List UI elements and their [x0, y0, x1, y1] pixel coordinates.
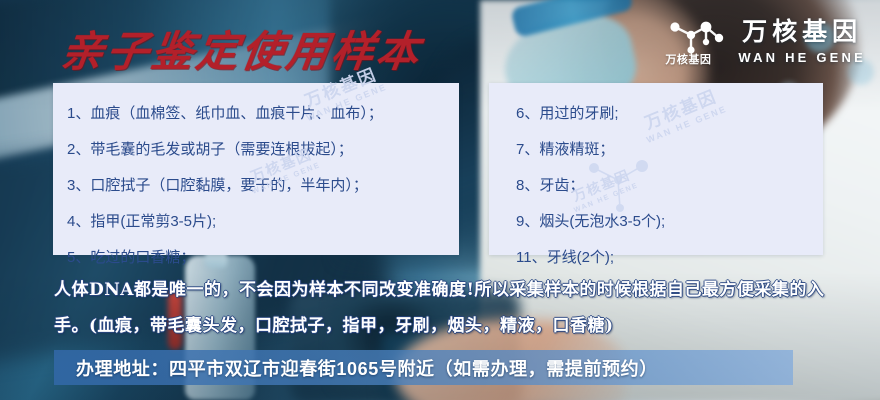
- molecule-network-icon: 万核基因: [666, 18, 726, 66]
- sample-list-left: 1、血痕（血棉签、纸巾血、血痕干片、血布）； 2、带毛囊的毛发或胡子（需要连根拔…: [53, 83, 459, 265]
- list-item: 2、带毛囊的毛发或胡子（需要连根拔起）；: [67, 142, 459, 157]
- sample-list-panel-left: 1、血痕（血棉签、纸巾血、血痕干片、血布）； 2、带毛囊的毛发或胡子（需要连根拔…: [53, 83, 459, 255]
- brand-name-cn: 万核基因: [742, 20, 862, 45]
- poster-root: 亲子鉴定使用样本 万核: [0, 0, 880, 400]
- sample-list-panel-right: 6、用过的牙刷; 7、精液精斑； 8、牙齿； 9、烟头(无泡水3-5个); 11…: [489, 83, 823, 255]
- brand-name-en: WAN HE GENE: [738, 51, 866, 64]
- list-item: 9、烟头(无泡水3-5个);: [516, 214, 823, 229]
- address-banner: 办理地址：四平市双辽市迎春街1065号附近（如需办理，需提前预约）: [54, 350, 793, 385]
- brand-logo[interactable]: 万核基因 万核基因 WAN HE GENE: [666, 18, 866, 66]
- list-item: 5、吃过的口香糖；: [67, 250, 459, 265]
- logo-mark-label: 万核基因: [665, 51, 711, 67]
- brand-text: 万核基因 WAN HE GENE: [738, 20, 866, 64]
- address-text: 办理地址：四平市双辽市迎春街1065号附近（如需办理，需提前预约）: [54, 355, 658, 381]
- list-item: 1、血痕（血棉签、纸巾血、血痕干片、血布）；: [67, 106, 459, 121]
- list-item: 7、精液精斑；: [516, 142, 823, 157]
- sample-list-right: 6、用过的牙刷; 7、精液精斑； 8、牙齿； 9、烟头(无泡水3-5个); 11…: [489, 83, 823, 265]
- list-item: 8、牙齿；: [516, 178, 823, 193]
- page-title: 亲子鉴定使用样本: [58, 18, 427, 79]
- list-item: 6、用过的牙刷;: [516, 106, 823, 121]
- list-item: 3、口腔拭子（口腔黏膜，要干的，半年内）；: [67, 178, 459, 193]
- note-paragraph: 人体DNA都是唯一的，不会因为样本不同改变准确度!所以采集样本的时候根据自己最方…: [54, 272, 844, 344]
- list-item: 11、牙线(2个);: [516, 250, 823, 265]
- list-item: 4、指甲(正常剪3-5片);: [67, 214, 459, 229]
